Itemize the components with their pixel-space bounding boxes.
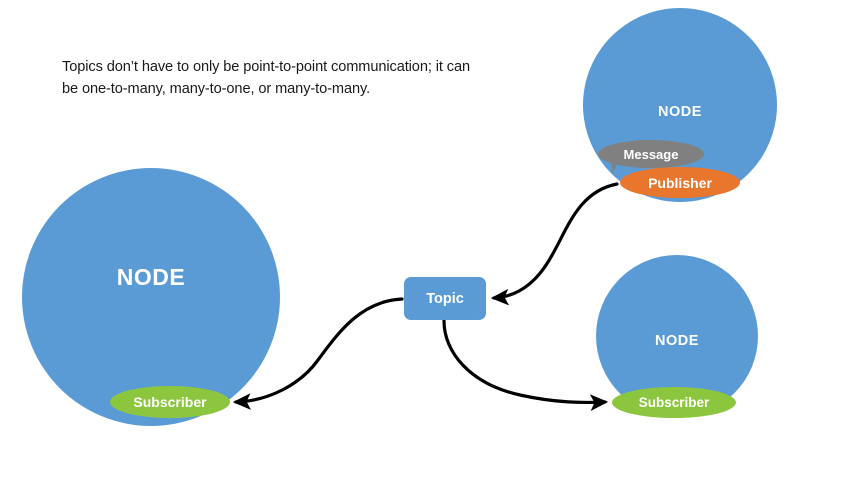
subscriber-left[interactable]: Subscriber: [110, 386, 230, 418]
node-top-right-label: NODE: [583, 104, 777, 120]
node-bottom-right-label: NODE: [596, 333, 758, 349]
message-bubble[interactable]: Message: [598, 140, 704, 168]
publisher[interactable]: Publisher: [620, 167, 740, 198]
edge-publisher-to-topic: [494, 184, 617, 298]
diagram-canvas: Topics don’t have to only be point-to-po…: [0, 0, 854, 480]
subscriber-bottom-right[interactable]: Subscriber: [612, 387, 736, 418]
subscriber-bottom-right-label: Subscriber: [639, 395, 710, 410]
node-left-label: NODE: [22, 264, 280, 291]
topic-box[interactable]: Topic: [404, 277, 486, 320]
subscriber-left-label: Subscriber: [133, 394, 206, 410]
edge-topic-to-bottom-right-subscriber: [444, 321, 605, 402]
message-label: Message: [624, 147, 679, 162]
publisher-label: Publisher: [648, 175, 712, 191]
topic-label: Topic: [426, 291, 464, 307]
caption-text: Topics don’t have to only be point-to-po…: [62, 57, 482, 101]
